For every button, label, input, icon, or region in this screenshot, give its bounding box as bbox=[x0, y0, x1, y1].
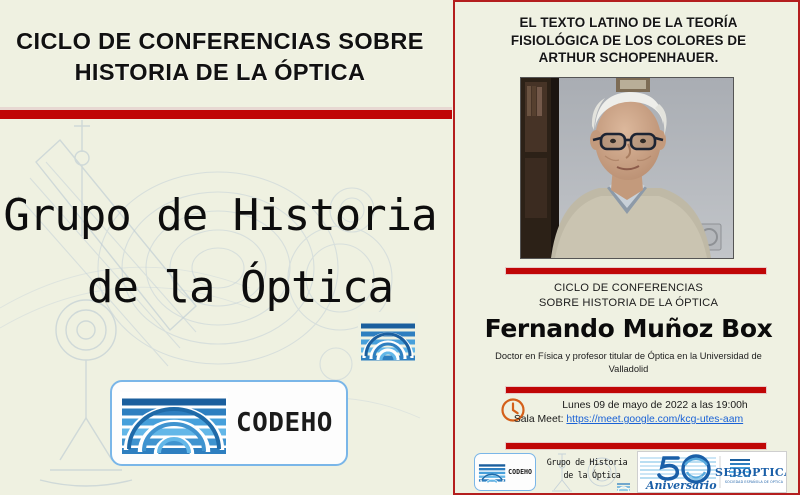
red-divider-2 bbox=[505, 386, 767, 394]
codeho-wave-mark-icon bbox=[120, 392, 228, 454]
speaker-role-line-1: Doctor en Física y profesor titular de Ó… bbox=[476, 350, 781, 363]
sedoptica-name: SEDOPTICA bbox=[786, 452, 787, 453]
speaker-photo bbox=[520, 77, 734, 259]
codeho-wave-mark-icon bbox=[478, 461, 506, 483]
red-divider-bar bbox=[0, 110, 452, 119]
codeho-label: CODEHO bbox=[236, 408, 333, 438]
group-wordmark-line-1: Grupo de Historia bbox=[3, 190, 436, 241]
series-title-line-1: CICLO DE CONFERENCIAS SOBRE bbox=[0, 26, 440, 57]
talk-title-line-3: ARTHUR SCHOPENHAUER. bbox=[466, 49, 791, 67]
series-subtitle: CICLO DE CONFERENCIAS SOBRE HISTORIA DE … bbox=[466, 281, 791, 310]
speaker-portrait-illustration bbox=[521, 78, 733, 258]
sponsor-logo-strip: CODEHO bbox=[474, 451, 794, 493]
grupo-historia-optica-logo: Grupo de Historia de la Óptica bbox=[544, 452, 630, 492]
talk-title: EL TEXTO LATINO DE LA TEORÍA FISIOLÓGICA… bbox=[466, 14, 791, 67]
event-datetime: Lunes 09 de mayo de 2022 a las 19:00h bbox=[524, 400, 786, 411]
meet-label: Sala Meet: bbox=[514, 414, 567, 425]
speaker-name: Fernando Muñoz Box bbox=[466, 314, 791, 343]
wave-arcs-badge-icon bbox=[358, 312, 418, 364]
series-subtitle-line-1: CICLO DE CONFERENCIAS bbox=[466, 281, 791, 296]
sedoptica-logo-graphic: Aniversario bbox=[638, 452, 786, 492]
right-panel-inner: EL TEXTO LATINO DE LA TEORÍA FISIOLÓGICA… bbox=[460, 5, 793, 490]
red-divider-3 bbox=[505, 442, 767, 450]
speaker-role-line-2: Valladolid bbox=[476, 363, 781, 376]
svg-text:Aniversario: Aniversario bbox=[645, 479, 717, 492]
series-title: CICLO DE CONFERENCIAS SOBRE HISTORIA DE … bbox=[0, 26, 440, 88]
red-divider-1 bbox=[505, 267, 767, 275]
codeho-label: CODEHO bbox=[508, 468, 532, 476]
left-panel: CICLO DE CONFERENCIAS SOBRE HISTORIA DE … bbox=[0, 0, 453, 495]
series-title-line-2: HISTORIA DE LA ÓPTICA bbox=[0, 57, 440, 88]
anniversary-word: Aniversario bbox=[786, 452, 787, 453]
sedoptica-subtitle: SOCIEDAD ESPAÑOLA DE ÓPTICA bbox=[786, 452, 787, 453]
codeho-logo-small: CODEHO bbox=[474, 453, 536, 491]
svg-text:SOCIEDAD ESPAÑOLA DE ÓPTICA: SOCIEDAD ESPAÑOLA DE ÓPTICA bbox=[725, 479, 784, 484]
gho-logo-line-2: de la Óptica bbox=[544, 469, 630, 482]
talk-title-line-1: EL TEXTO LATINO DE LA TEORÍA bbox=[466, 14, 791, 32]
group-wordmark: Grupo de Historia de la Óptica bbox=[0, 180, 440, 324]
anniversary-number: 50 bbox=[786, 452, 787, 453]
speaker-role: Doctor en Física y profesor titular de Ó… bbox=[476, 350, 781, 376]
series-subtitle-line-2: SOBRE HISTORIA DE LA ÓPTICA bbox=[466, 296, 791, 311]
sedoptica-anniversary-logo: Aniversario bbox=[637, 451, 787, 493]
conference-poster: CICLO DE CONFERENCIAS SOBRE HISTORIA DE … bbox=[0, 0, 800, 495]
meet-room-line: Sala Meet: https://meet.google.com/kcg-u… bbox=[466, 414, 791, 425]
codeho-logo: CODEHO bbox=[110, 380, 348, 466]
meet-link[interactable]: https://meet.google.com/kcg-utes-aam bbox=[566, 414, 743, 425]
gho-logo-line-1: Grupo de Historia bbox=[547, 457, 628, 467]
right-panel: EL TEXTO LATINO DE LA TEORÍA FISIOLÓGICA… bbox=[453, 0, 800, 495]
gho-logo-text: Grupo de Historia de la Óptica bbox=[544, 456, 630, 481]
svg-text:SEDOPTICA: SEDOPTICA bbox=[715, 466, 786, 479]
wave-arcs-badge-icon bbox=[617, 481, 630, 492]
talk-title-line-2: FISIOLÓGICA DE LOS COLORES DE bbox=[466, 32, 791, 50]
